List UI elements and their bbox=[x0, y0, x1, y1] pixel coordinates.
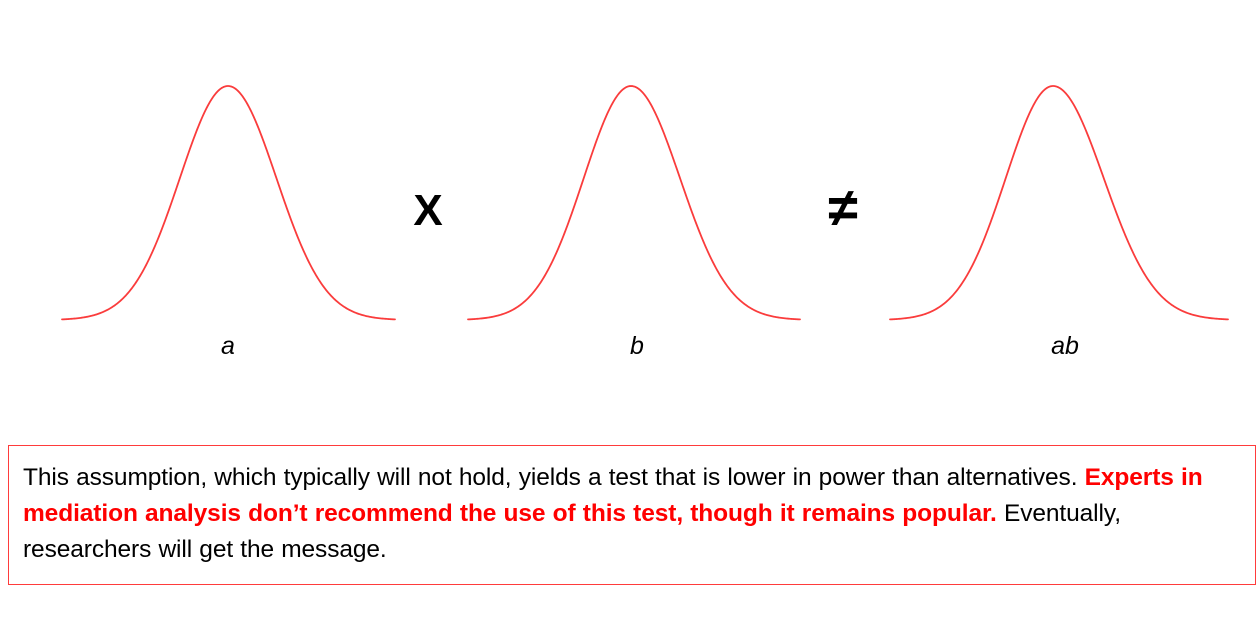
multiplication-operator: X bbox=[413, 189, 442, 233]
caption-box: This assumption, which typically will no… bbox=[8, 445, 1256, 585]
slide-canvas: a b ab X ≠ This assumption, which typica… bbox=[0, 0, 1256, 630]
curve-label-b: b bbox=[630, 334, 644, 359]
curve-label-ab: ab bbox=[1051, 334, 1079, 359]
not-equal-operator: ≠ bbox=[828, 181, 858, 235]
curve-label-a: a bbox=[221, 334, 235, 359]
bell-curve-ab bbox=[890, 86, 1228, 319]
bell-curves-svg bbox=[0, 0, 1256, 440]
bell-curve-a bbox=[62, 86, 395, 319]
bell-curve-group bbox=[62, 86, 1228, 319]
caption-text: This assumption, which typically will no… bbox=[23, 460, 1249, 568]
distribution-figure: a b ab X ≠ bbox=[0, 0, 1256, 440]
bell-curve-b bbox=[468, 86, 800, 319]
caption-segment-0: This assumption, which typically will no… bbox=[23, 464, 1085, 491]
